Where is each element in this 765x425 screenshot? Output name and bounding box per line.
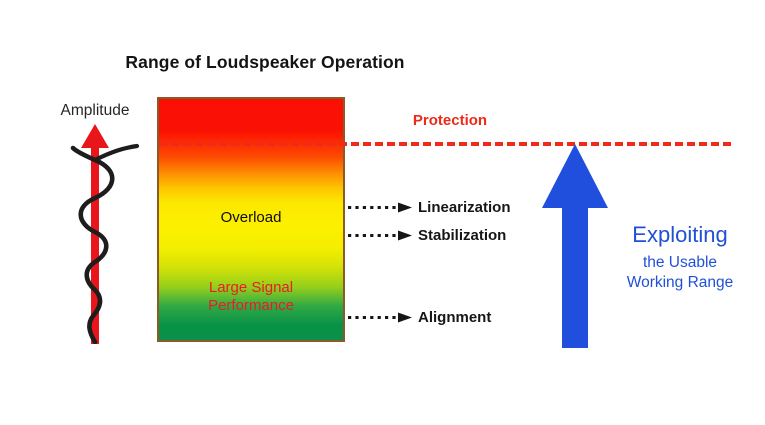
callout-label-stabilization: Stabilization (418, 227, 506, 244)
amplitude-axis-label: Amplitude (40, 102, 150, 120)
page-title: Range of Loudspeaker Operation (105, 52, 425, 73)
dotted-arrow-icon-stabilization (348, 230, 414, 241)
protection-threshold-line (159, 142, 731, 146)
band-small-line2: Performance (159, 409, 343, 425)
band-label-small-signal: Small Signal Performance (159, 391, 343, 425)
exploit-subtext: the Usable Working Range (600, 253, 760, 293)
protection-label: Protection (360, 112, 540, 129)
callout-label-linearization: Linearization (418, 199, 511, 216)
band-small-line1: Small Signal (159, 391, 343, 409)
exploit-subline-2: Working Range (600, 273, 760, 293)
band-label-large-signal: Large Signal Performance (159, 279, 343, 316)
band-label-overload: Overload (159, 209, 343, 227)
band-large-line2: Performance (159, 297, 343, 315)
exploit-headline: Exploiting (600, 222, 760, 248)
band-large-line1: Large Signal (159, 279, 343, 297)
callout-label-alignment: Alignment (418, 309, 491, 326)
exploit-subline-1: the Usable (600, 253, 760, 273)
amplitude-arrow-wave-icon (45, 124, 145, 344)
dotted-arrow-icon-linearization (348, 202, 414, 213)
slide-canvas: Range of Loudspeaker Operation Amplitude… (0, 0, 765, 425)
dotted-arrow-icon-alignment (348, 312, 414, 323)
operating-range-box: Overload Large Signal Performance Small … (157, 97, 345, 342)
